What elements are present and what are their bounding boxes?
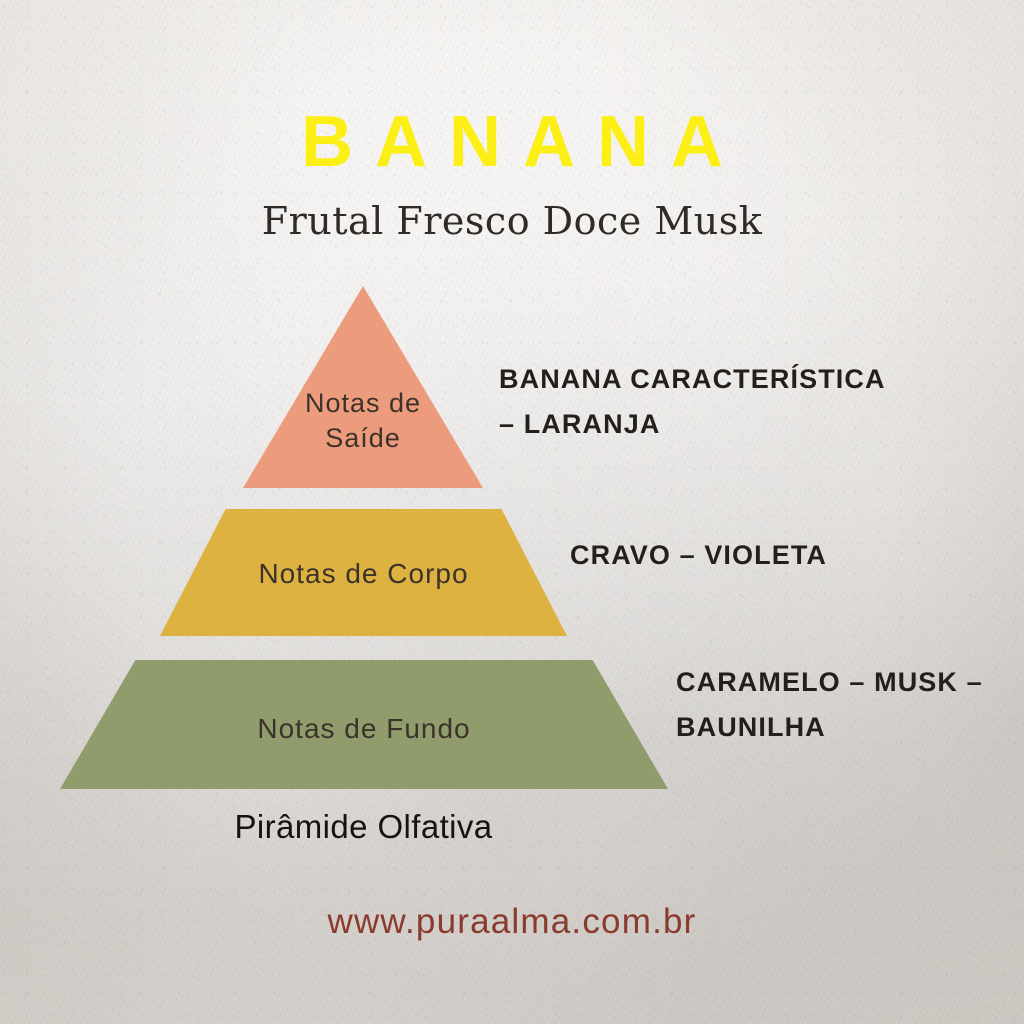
perfume-pyramid-poster: BANANA Frutal Fresco Doce Musk Notas de … — [0, 0, 1024, 1024]
pyramid-level-top-label: Notas de Saíde — [243, 386, 483, 455]
pyramid-notes-bottom: CARAMELO – MUSK – BAUNILHA — [676, 660, 1016, 749]
pyramid-level-bottom-label: Notas de Fundo — [60, 711, 668, 747]
pyramid-caption: Pirâmide Olfativa — [0, 808, 727, 846]
pyramid-notes-middle: CRAVO – VIOLETA — [570, 533, 990, 578]
website-url: www.puraalma.com.br — [0, 902, 1024, 942]
olfactory-pyramid-diagram: Notas de Saíde Notas de Corpo Notas de F… — [0, 0, 1024, 1024]
pyramid-notes-top: BANANA CARACTERÍSTICA – LARANJA — [499, 357, 949, 446]
pyramid-level-middle-label: Notas de Corpo — [160, 556, 567, 592]
